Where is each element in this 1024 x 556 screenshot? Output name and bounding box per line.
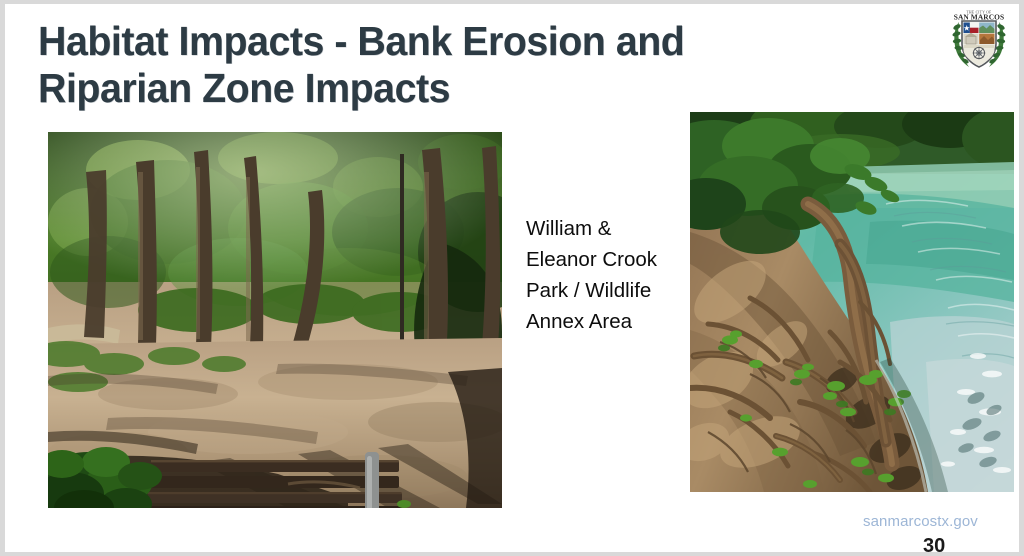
slide-page-number: 30: [923, 535, 945, 552]
crest-main-text: SAN MARCOS: [954, 12, 1004, 21]
page-title: Habitat Impacts - Bank Erosion and Ripar…: [38, 18, 918, 112]
presentation-slide: Habitat Impacts - Bank Erosion and Ripar…: [5, 4, 1019, 552]
city-of-san-marcos-crest-icon: THE CITY OF SAN MARCOS: [950, 6, 1008, 74]
slide-viewport: Habitat Impacts - Bank Erosion and Ripar…: [0, 0, 1024, 556]
river-bank-erosion-exposed-roots-photo: [690, 112, 1014, 492]
photo-caption: William & Eleanor Crook Park / Wildlife …: [526, 213, 686, 337]
title-line-2: Riparian Zone Impacts: [38, 65, 883, 112]
crook-park-bench-bare-soil-photo: [48, 132, 502, 508]
title-line-1: Habitat Impacts - Bank Erosion and: [38, 18, 883, 65]
footer-website-url[interactable]: sanmarcostx.gov: [863, 513, 978, 530]
